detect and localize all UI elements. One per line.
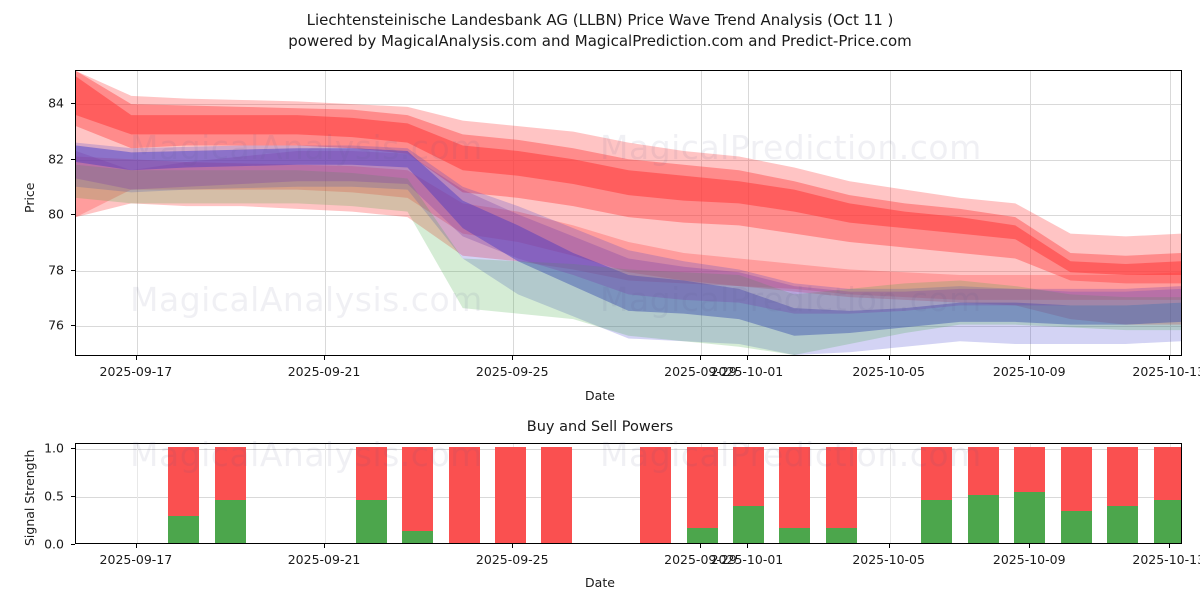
buy-power-segment [1014, 492, 1045, 543]
x-tick-mark [700, 544, 701, 548]
signal-bar[interactable] [640, 447, 671, 543]
signal-chart-title: Buy and Sell Powers [0, 419, 1200, 435]
x-tick-label: 2025-10-09 [993, 364, 1066, 379]
signal-bar[interactable] [779, 447, 810, 543]
signal-bar[interactable] [215, 447, 246, 543]
x-tick-label: 2025-09-17 [100, 364, 173, 379]
signal-bar[interactable] [687, 447, 718, 543]
x-tick-label: 2025-10-01 [711, 364, 784, 379]
buy-power-segment [402, 531, 433, 543]
signal-bar[interactable] [356, 447, 387, 543]
x-tick-label: 2025-10-05 [852, 364, 925, 379]
signal-bar[interactable] [968, 447, 999, 543]
sell-power-segment [541, 447, 572, 543]
buy-power-segment [968, 495, 999, 543]
signal-chart-x-axis-label: Date [0, 575, 1200, 590]
x-tick-label: 2025-09-21 [288, 364, 361, 379]
buy-power-segment [921, 500, 952, 543]
gridline-vertical [890, 444, 891, 543]
x-tick-mark [1169, 356, 1170, 360]
signal-bar[interactable] [1107, 447, 1138, 543]
buy-power-segment [1154, 500, 1182, 543]
sell-power-segment [402, 447, 433, 543]
buy-power-segment [215, 500, 246, 543]
y-tick-label: 84 [20, 96, 64, 111]
figure-title-line1: Liechtensteinische Landesbank AG (LLBN) … [307, 11, 894, 29]
x-tick-mark [512, 544, 513, 548]
sell-power-segment [449, 447, 480, 543]
y-tick-mark [71, 544, 75, 545]
price-chart-plot-area [75, 70, 1182, 356]
x-tick-mark [1169, 544, 1170, 548]
x-tick-mark [700, 356, 701, 360]
x-tick-mark [889, 544, 890, 548]
y-tick-mark [71, 159, 75, 160]
buy-power-segment [1061, 511, 1092, 543]
signal-bar[interactable] [733, 447, 764, 543]
y-tick-label: 82 [20, 151, 64, 166]
y-tick-mark [71, 448, 75, 449]
figure-title: Liechtensteinische Landesbank AG (LLBN) … [0, 10, 1200, 52]
x-tick-mark [747, 356, 748, 360]
x-tick-label: 2025-10-13 [1132, 364, 1200, 379]
buy-power-segment [356, 500, 387, 543]
sell-power-segment [495, 447, 526, 543]
signal-chart-y-axis-label: Signal Strength [22, 450, 37, 546]
chart-figure: Liechtensteinische Landesbank AG (LLBN) … [0, 0, 1200, 600]
y-tick-mark [71, 270, 75, 271]
signal-bar[interactable] [541, 447, 572, 543]
signal-chart-plot-area [75, 443, 1182, 544]
x-tick-mark [889, 356, 890, 360]
signal-bar[interactable] [495, 447, 526, 543]
price-chart-x-axis-label: Date [0, 388, 1200, 403]
price-chart-y-axis-label: Price [22, 183, 37, 214]
buy-power-segment [687, 528, 718, 543]
y-tick-mark [71, 325, 75, 326]
x-tick-mark [747, 544, 748, 548]
x-tick-label: 2025-10-01 [711, 552, 784, 567]
x-tick-label: 2025-09-17 [100, 552, 173, 567]
y-tick-mark [71, 496, 75, 497]
signal-bar[interactable] [402, 447, 433, 543]
y-tick-mark [71, 103, 75, 104]
x-tick-mark [324, 544, 325, 548]
figure-title-line2: powered by MagicalAnalysis.com and Magic… [0, 31, 1200, 52]
signal-bar[interactable] [1061, 447, 1092, 543]
signal-bar[interactable] [168, 447, 199, 543]
signal-bar[interactable] [1014, 447, 1045, 543]
gridline-vertical [325, 444, 326, 543]
buy-power-segment [733, 506, 764, 544]
x-tick-mark [512, 356, 513, 360]
x-tick-label: 2025-09-21 [288, 552, 361, 567]
x-tick-label: 2025-10-13 [1132, 552, 1200, 567]
sell-power-segment [640, 447, 671, 543]
x-tick-mark [1029, 544, 1030, 548]
signal-bar[interactable] [1154, 447, 1182, 543]
x-tick-label: 2025-10-09 [993, 552, 1066, 567]
x-tick-mark [136, 356, 137, 360]
x-tick-label: 2025-09-25 [476, 364, 549, 379]
buy-power-segment [1107, 506, 1138, 543]
buy-power-segment [779, 528, 810, 543]
y-tick-label: 76 [20, 318, 64, 333]
x-tick-mark [1029, 356, 1030, 360]
x-tick-mark [136, 544, 137, 548]
y-tick-label: 78 [20, 262, 64, 277]
signal-bar[interactable] [449, 447, 480, 543]
x-tick-mark [324, 356, 325, 360]
x-tick-label: 2025-09-25 [476, 552, 549, 567]
buy-power-segment [826, 528, 857, 543]
y-tick-mark [71, 214, 75, 215]
signal-bar[interactable] [921, 447, 952, 543]
x-tick-label: 2025-10-05 [852, 552, 925, 567]
buy-power-segment [168, 516, 199, 543]
gridline-vertical [137, 444, 138, 543]
price-wave-bands [76, 71, 1181, 355]
signal-bar[interactable] [826, 447, 857, 543]
